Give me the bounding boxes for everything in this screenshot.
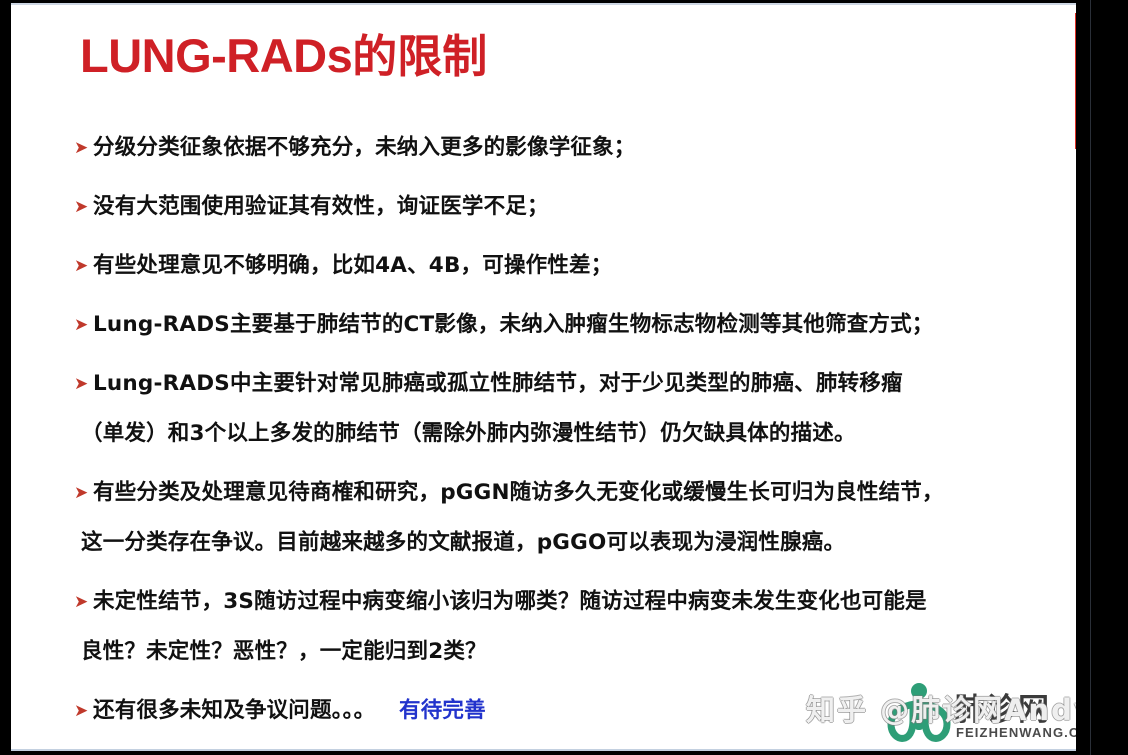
arrow-bullet-icon: ➤ [74, 468, 88, 518]
bullet-item-5: ➤ Lung-RADS中主要针对常见肺癌或孤立性肺结节，对于少见类型的肺癌、肺转… [71, 359, 1061, 459]
arrow-bullet-icon: ➤ [74, 241, 88, 291]
page-title-cjk: 的限制 [352, 30, 487, 83]
bullet-item-8: ➤ 还有很多未知及争议问题。。。 有待完善 [71, 686, 1061, 736]
bullet-item-7: ➤ 未定性结节，3S随访过程中病变缩小该归为哪类？随访过程中病变未发生变化也可能… [71, 577, 1061, 677]
arrow-bullet-icon: ➤ [74, 686, 88, 736]
bullet-text-line1: 没有大范围使用验证其有效性，询证医学不足； [93, 194, 549, 219]
bullet-text-line1: 有些分类及处理意见待商榷和研究，pGGN随访多久无变化或缓慢生长可归为良性结节， [93, 480, 944, 505]
page-title-latin: LUNG-RADs [80, 29, 352, 82]
arrow-bullet-icon: ➤ [74, 300, 88, 350]
bullet-text-line1: 还有很多未知及争议问题。。。 [93, 698, 375, 723]
bullet-text-line2: 良性？未定性？恶性？，一定能归到2类？ [81, 627, 1061, 677]
left-black-margin [0, 0, 11, 755]
bullet-text-line1: 未定性结节，3S随访过程中病变缩小该归为哪类？随访过程中病变未发生变化也可能是 [93, 589, 927, 614]
arrow-bullet-icon: ➤ [74, 577, 88, 627]
bullet-item-1: ➤ 分级分类征象依据不够充分，未纳入更多的影像学征象； [71, 123, 1061, 173]
bullet-text-line1: Lung-RADS主要基于肺结节的CT影像，未纳入肿瘤生物标志物检测等其他筛查方… [93, 312, 934, 337]
bullet-item-2: ➤ 没有大范围使用验证其有效性，询证医学不足； [71, 182, 1061, 232]
bullet-text-line1: 有些处理意见不够明确，比如4A、4B，可操作性差； [93, 253, 612, 278]
page-title: LUNG-RADs的限制 [80, 32, 487, 79]
arrow-bullet-icon: ➤ [74, 182, 88, 232]
bullet-accent-text: 有待完善 [399, 698, 486, 723]
bullet-item-6: ➤ 有些分类及处理意见待商榷和研究，pGGN随访多久无变化或缓慢生长可归为良性结… [71, 468, 1061, 568]
presentation-slide: LUNG-RADs的限制 ➤ 分级分类征象依据不够充分，未纳入更多的影像学征象；… [11, 3, 1076, 751]
bullet-item-3: ➤ 有些处理意见不够明确，比如4A、4B，可操作性差； [71, 241, 1061, 291]
bullet-item-4: ➤ Lung-RADS主要基于肺结节的CT影像，未纳入肿瘤生物标志物检测等其他筛… [71, 300, 1061, 350]
arrow-bullet-icon: ➤ [74, 123, 88, 173]
bullet-text-line2: 这一分类存在争议。目前越来越多的文献报道，pGGO可以表现为浸润性腺癌。 [81, 518, 1061, 568]
bullet-text-line1: 分级分类征象依据不够充分，未纳入更多的影像学征象； [93, 135, 636, 160]
slide-screenshot: LUNG-RADs的限制 ➤ 分级分类征象依据不够充分，未纳入更多的影像学征象；… [0, 0, 1128, 755]
bullet-list: ➤ 分级分类征象依据不够充分，未纳入更多的影像学征象； ➤ 没有大范围使用验证其… [71, 123, 1061, 736]
bullet-text-line1: Lung-RADS中主要针对常见肺癌或孤立性肺结节，对于少见类型的肺癌、肺转移瘤 [93, 371, 903, 396]
red-accent-bar [1075, 13, 1076, 149]
bullet-text-line2: （单发）和3个以上多发的肺结节（需除外肺内弥漫性结节）仍欠缺具体的描述。 [81, 409, 1061, 459]
right-hairline-divider [1090, 0, 1091, 755]
arrow-bullet-icon: ➤ [74, 359, 88, 409]
